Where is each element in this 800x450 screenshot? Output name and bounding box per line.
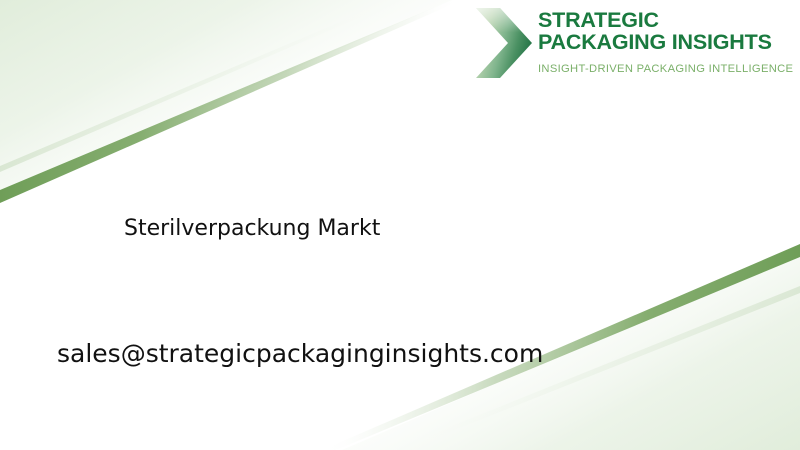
top-left-inner-streak [0, 0, 400, 172]
slide-title: Sterilverpackung Markt [124, 214, 380, 244]
top-left-wash-triangle [0, 0, 452, 196]
chevron-arrow-icon [470, 0, 536, 86]
logo-wordmark-line-1: STRATEGIC [538, 9, 793, 31]
top-left-edge-line [0, 0, 462, 203]
logo-wordmark-line-2: PACKAGING INSIGHTS [538, 31, 793, 53]
logo-tagline: INSIGHT-DRIVEN PACKAGING INTELLIGENCE [538, 62, 793, 76]
contact-email: sales@strategicpackaginginsights.com [57, 337, 543, 371]
logo-wordmark-group: STRATEGIC PACKAGING INSIGHTS INSIGHT-DRI… [536, 0, 793, 76]
presentation-slide: STRATEGIC PACKAGING INSIGHTS INSIGHT-DRI… [0, 0, 800, 450]
company-logo: STRATEGIC PACKAGING INSIGHTS INSIGHT-DRI… [470, 0, 800, 86]
